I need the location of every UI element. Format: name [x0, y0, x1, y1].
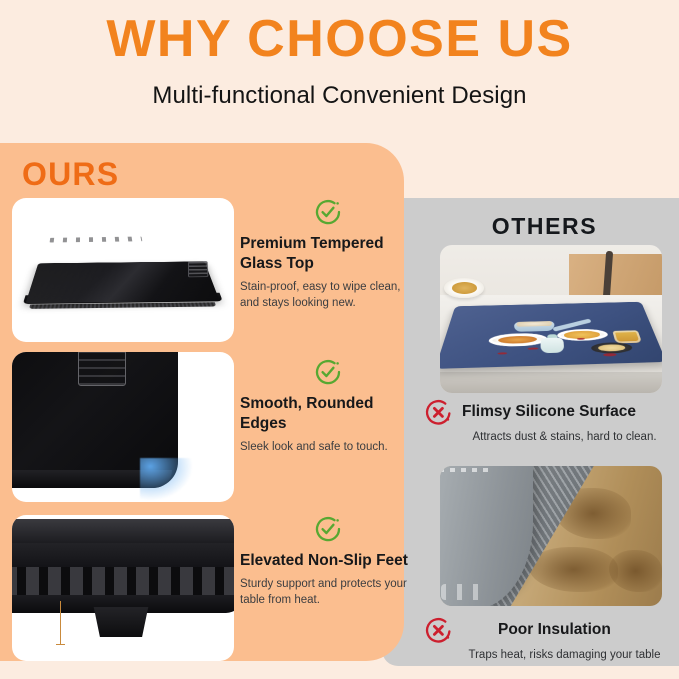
ours-label: OURS	[22, 156, 119, 193]
check-circle-icon	[314, 515, 342, 543]
dish-paella	[488, 333, 547, 347]
tray-control-pad	[188, 261, 208, 277]
milk-jug	[540, 337, 565, 353]
x-circle-icon	[424, 616, 453, 645]
tray-underside-mid	[12, 543, 234, 569]
feature-item: Elevated Non-Slip Feet Sturdy support an…	[240, 515, 416, 608]
con-description: Attracts dust & stains, hard to clean.	[460, 430, 669, 446]
feature-item: Premium Tempered Glass Top Stain-proof, …	[240, 198, 416, 311]
con-description: Traps heat, risks damaging your table	[460, 648, 669, 664]
feature-title: Elevated Non-Slip Feet	[240, 551, 416, 571]
ours-image-rounded-edge	[12, 352, 234, 502]
ours-image-glass-top	[12, 198, 234, 342]
infographic-root: WHY CHOOSE US Multi-functional Convenien…	[0, 0, 679, 679]
header: WHY CHOOSE US Multi-functional Convenien…	[0, 0, 679, 143]
con-item: Flimsy Silicone Surface Attracts dust & …	[424, 398, 669, 446]
con-header: Poor Insulation	[424, 616, 669, 645]
check-circle-icon	[314, 358, 342, 386]
glass-sheen	[26, 262, 127, 303]
cast-iron-skillet	[590, 342, 634, 354]
others-label: OTHERS	[420, 213, 669, 240]
sauce-spill	[498, 352, 507, 354]
feature-description: Stain-proof, easy to wipe clean, and sta…	[240, 279, 416, 312]
blue-pot	[513, 321, 554, 332]
con-item: Poor Insulation Traps heat, risks damagi…	[424, 616, 669, 664]
blue-silicone-mat	[440, 302, 662, 369]
others-image-damaged-table	[440, 466, 662, 606]
feature-title: Smooth, Rounded Edges	[240, 394, 416, 434]
sauce-spill	[603, 353, 617, 356]
feature-description: Sturdy support and protects your table f…	[240, 576, 416, 609]
silicone-stitch-edge	[440, 468, 494, 472]
page-title: WHY CHOOSE US	[0, 12, 679, 67]
feature-description: Sleek look and safe to touch.	[240, 439, 416, 455]
silicone-stitch-edge	[441, 584, 486, 600]
nonslip-foot	[90, 607, 152, 637]
x-circle-icon	[424, 398, 453, 427]
tray-control-icons	[50, 237, 143, 243]
tray-underside-vents	[12, 567, 234, 597]
con-header: Flimsy Silicone Surface	[424, 398, 669, 427]
tray-underside-top	[12, 519, 234, 545]
warming-tray-illustration	[12, 198, 234, 342]
sauce-spill	[527, 347, 538, 350]
feature-item: Smooth, Rounded Edges Sleek look and saf…	[240, 358, 416, 455]
check-circle-icon	[314, 198, 342, 226]
scene-table-edge	[440, 372, 662, 393]
tray-control-panel	[78, 352, 126, 386]
others-image-silicone-mat-table	[440, 245, 662, 393]
ours-image-nonslip-feet	[12, 515, 234, 661]
con-title: Poor Insulation	[498, 621, 611, 640]
page-subtitle: Multi-functional Convenient Design	[0, 82, 679, 110]
foot-callout-line	[60, 601, 61, 645]
feature-title: Premium Tempered Glass Top	[240, 234, 416, 274]
edge-blue-highlight	[140, 458, 192, 500]
con-title: Flimsy Silicone Surface	[462, 403, 636, 422]
